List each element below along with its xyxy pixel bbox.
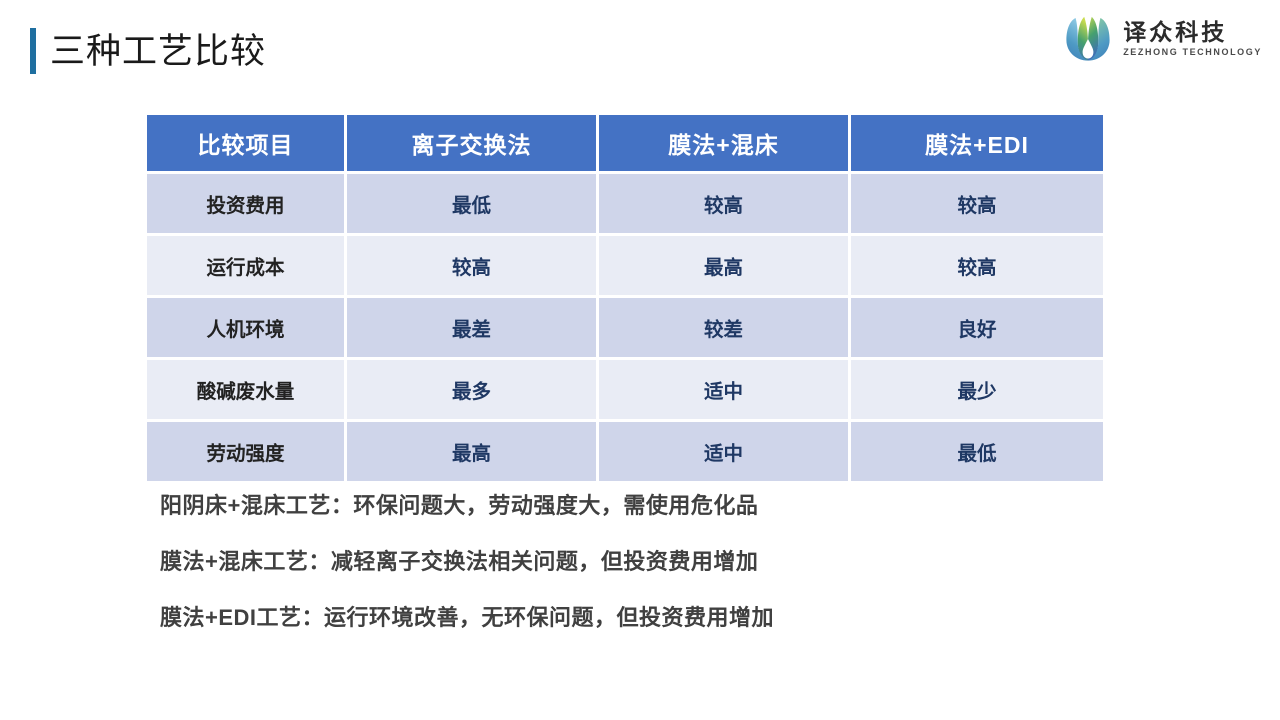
cell-wastewater-membrane-mixed-bed: 适中 bbox=[599, 360, 851, 422]
cell-environment-ion-exchange: 最差 bbox=[347, 298, 599, 360]
table-row: 劳动强度 最高 适中 最低 bbox=[147, 422, 1103, 481]
column-header-ion-exchange: 离子交换法 bbox=[347, 115, 599, 174]
row-label-operating-cost: 运行成本 bbox=[147, 236, 347, 298]
table-header: 比较项目 离子交换法 膜法+混床 膜法+EDI bbox=[147, 115, 1103, 174]
cell-operating-ion-exchange: 较高 bbox=[347, 236, 599, 298]
note-line-membrane-mixed-bed: 膜法+混床工艺：减轻离子交换法相关问题，但投资费用增加 bbox=[160, 551, 1160, 573]
logo-text-block: 译众科技 ZEZHONG TECHNOLOGY bbox=[1123, 20, 1262, 58]
table-row: 酸碱废水量 最多 适中 最少 bbox=[147, 360, 1103, 422]
column-header-membrane-edi: 膜法+EDI bbox=[851, 115, 1103, 174]
title-accent-bar bbox=[30, 28, 36, 74]
cell-environment-membrane-edi: 良好 bbox=[851, 298, 1103, 360]
table-row: 运行成本 较高 最高 较高 bbox=[147, 236, 1103, 298]
slide-header: 三种工艺比较 bbox=[0, 0, 1280, 100]
page-title-group: 三种工艺比较 bbox=[30, 28, 266, 74]
cell-labor-ion-exchange: 最高 bbox=[347, 422, 599, 481]
cell-environment-membrane-mixed-bed: 较差 bbox=[599, 298, 851, 360]
cell-investment-membrane-mixed-bed: 较高 bbox=[599, 174, 851, 236]
row-label-acid-alkali-wastewater: 酸碱废水量 bbox=[147, 360, 347, 422]
cell-operating-membrane-edi: 较高 bbox=[851, 236, 1103, 298]
row-label-investment-cost: 投资费用 bbox=[147, 174, 347, 236]
cell-wastewater-membrane-edi: 最少 bbox=[851, 360, 1103, 422]
cell-labor-membrane-edi: 最低 bbox=[851, 422, 1103, 481]
note-line-membrane-edi: 膜法+EDI工艺：运行环境改善，无环保问题，但投资费用增加 bbox=[160, 607, 1160, 629]
logo-name-en: ZEZHONG TECHNOLOGY bbox=[1123, 47, 1262, 58]
summary-notes: 阳阴床+混床工艺：环保问题大，劳动强度大，需使用危化品 膜法+混床工艺：减轻离子… bbox=[160, 495, 1160, 629]
table-body: 投资费用 最低 较高 较高 运行成本 较高 最高 较高 人机环境 最差 较差 良… bbox=[147, 174, 1103, 481]
page-title: 三种工艺比较 bbox=[50, 34, 266, 69]
leaf-droplet-logo-icon bbox=[1061, 12, 1115, 66]
cell-labor-membrane-mixed-bed: 适中 bbox=[599, 422, 851, 481]
cell-investment-ion-exchange: 最低 bbox=[347, 174, 599, 236]
column-header-membrane-mixed-bed: 膜法+混床 bbox=[599, 115, 851, 174]
column-header-criteria: 比较项目 bbox=[147, 115, 347, 174]
process-comparison-table: 比较项目 离子交换法 膜法+混床 膜法+EDI 投资费用 最低 较高 较高 运行… bbox=[147, 115, 1103, 481]
cell-investment-membrane-edi: 较高 bbox=[851, 174, 1103, 236]
table-row: 人机环境 最差 较差 良好 bbox=[147, 298, 1103, 360]
logo-name-cn: 译众科技 bbox=[1123, 20, 1262, 45]
row-label-labor-intensity: 劳动强度 bbox=[147, 422, 347, 481]
company-logo: 译众科技 ZEZHONG TECHNOLOGY bbox=[1061, 12, 1262, 66]
cell-operating-membrane-mixed-bed: 最高 bbox=[599, 236, 851, 298]
cell-wastewater-ion-exchange: 最多 bbox=[347, 360, 599, 422]
row-label-work-environment: 人机环境 bbox=[147, 298, 347, 360]
table-header-row: 比较项目 离子交换法 膜法+混床 膜法+EDI bbox=[147, 115, 1103, 174]
note-line-ion-exchange: 阳阴床+混床工艺：环保问题大，劳动强度大，需使用危化品 bbox=[160, 495, 1160, 517]
table-row: 投资费用 最低 较高 较高 bbox=[147, 174, 1103, 236]
